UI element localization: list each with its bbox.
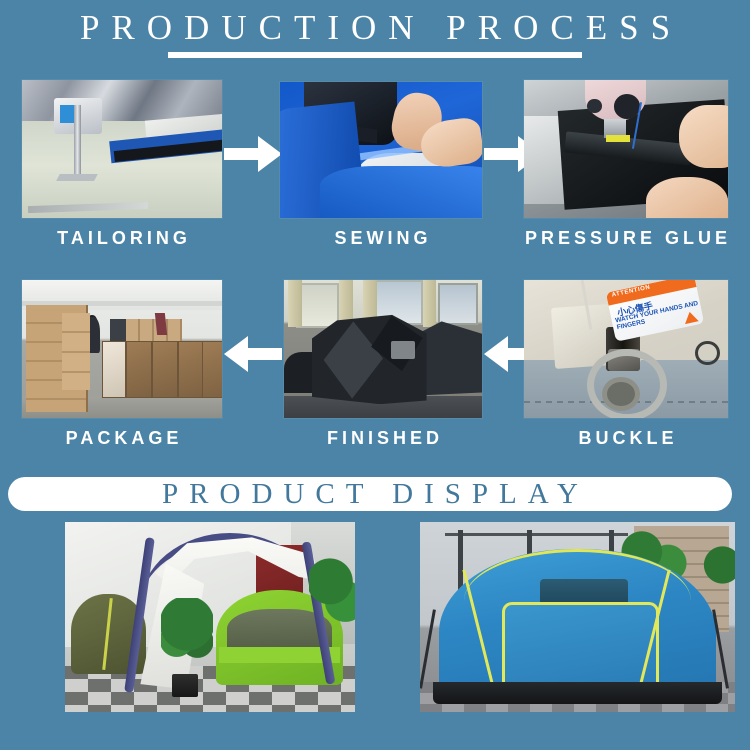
process-step-sewing: SEWING (280, 82, 482, 249)
process-step-package: PACKAGE (22, 280, 222, 449)
process-photo-tailoring (22, 80, 222, 218)
process-label-package: PACKAGE (22, 428, 222, 449)
process-photo-finished (284, 280, 482, 418)
production-process-title-text: PRODUCTION PROCESS (64, 8, 686, 48)
process-label-pressure-glue: PRESSURE GLUE (509, 228, 743, 249)
product-display-title-text: PRODUCT DISPLAY (151, 479, 589, 509)
tailoring-scene (22, 80, 222, 218)
process-step-tailoring: TAILORING (22, 80, 222, 249)
process-step-pressure-glue: PRESSURE GLUE (524, 80, 743, 249)
display-photo-blue-tent (420, 522, 735, 712)
process-step-buckle: ATTENTION 小心傷手 WATCH YOUR HANDS AND FING… (524, 280, 728, 449)
process-photo-sewing (280, 82, 482, 218)
warning-triangle-icon (683, 310, 699, 324)
finished-scene (284, 280, 482, 418)
process-label-buckle: BUCKLE (524, 428, 728, 449)
process-label-finished: FINISHED (284, 428, 482, 449)
display-photo-showroom (65, 522, 355, 712)
arrow-finished-to-package (224, 332, 284, 376)
buckle-scene: ATTENTION 小心傷手 WATCH YOUR HANDS AND FING… (524, 280, 728, 418)
pressure-glue-scene (524, 80, 728, 218)
blue-tent-scene (420, 522, 735, 712)
sewing-scene (280, 82, 482, 218)
process-photo-buckle: ATTENTION 小心傷手 WATCH YOUR HANDS AND FING… (524, 280, 728, 418)
process-label-tailoring: TAILORING (22, 228, 222, 249)
showroom-scene (65, 522, 355, 712)
title-underline (168, 52, 582, 58)
process-step-finished: FINISHED (284, 280, 482, 449)
process-photo-pressure-glue (524, 80, 728, 218)
package-scene (22, 280, 222, 418)
poster-root: PRODUCTION PROCESS TAILORING (0, 0, 750, 750)
arrow-tailoring-to-sewing (224, 132, 284, 176)
process-label-sewing: SEWING (280, 228, 482, 249)
buckle-warning-sticker: ATTENTION 小心傷手 WATCH YOUR HANDS AND FING… (605, 280, 703, 341)
product-display-banner: PRODUCT DISPLAY (8, 477, 732, 511)
process-photo-package (22, 280, 222, 418)
production-process-title: PRODUCTION PROCESS (0, 8, 750, 58)
